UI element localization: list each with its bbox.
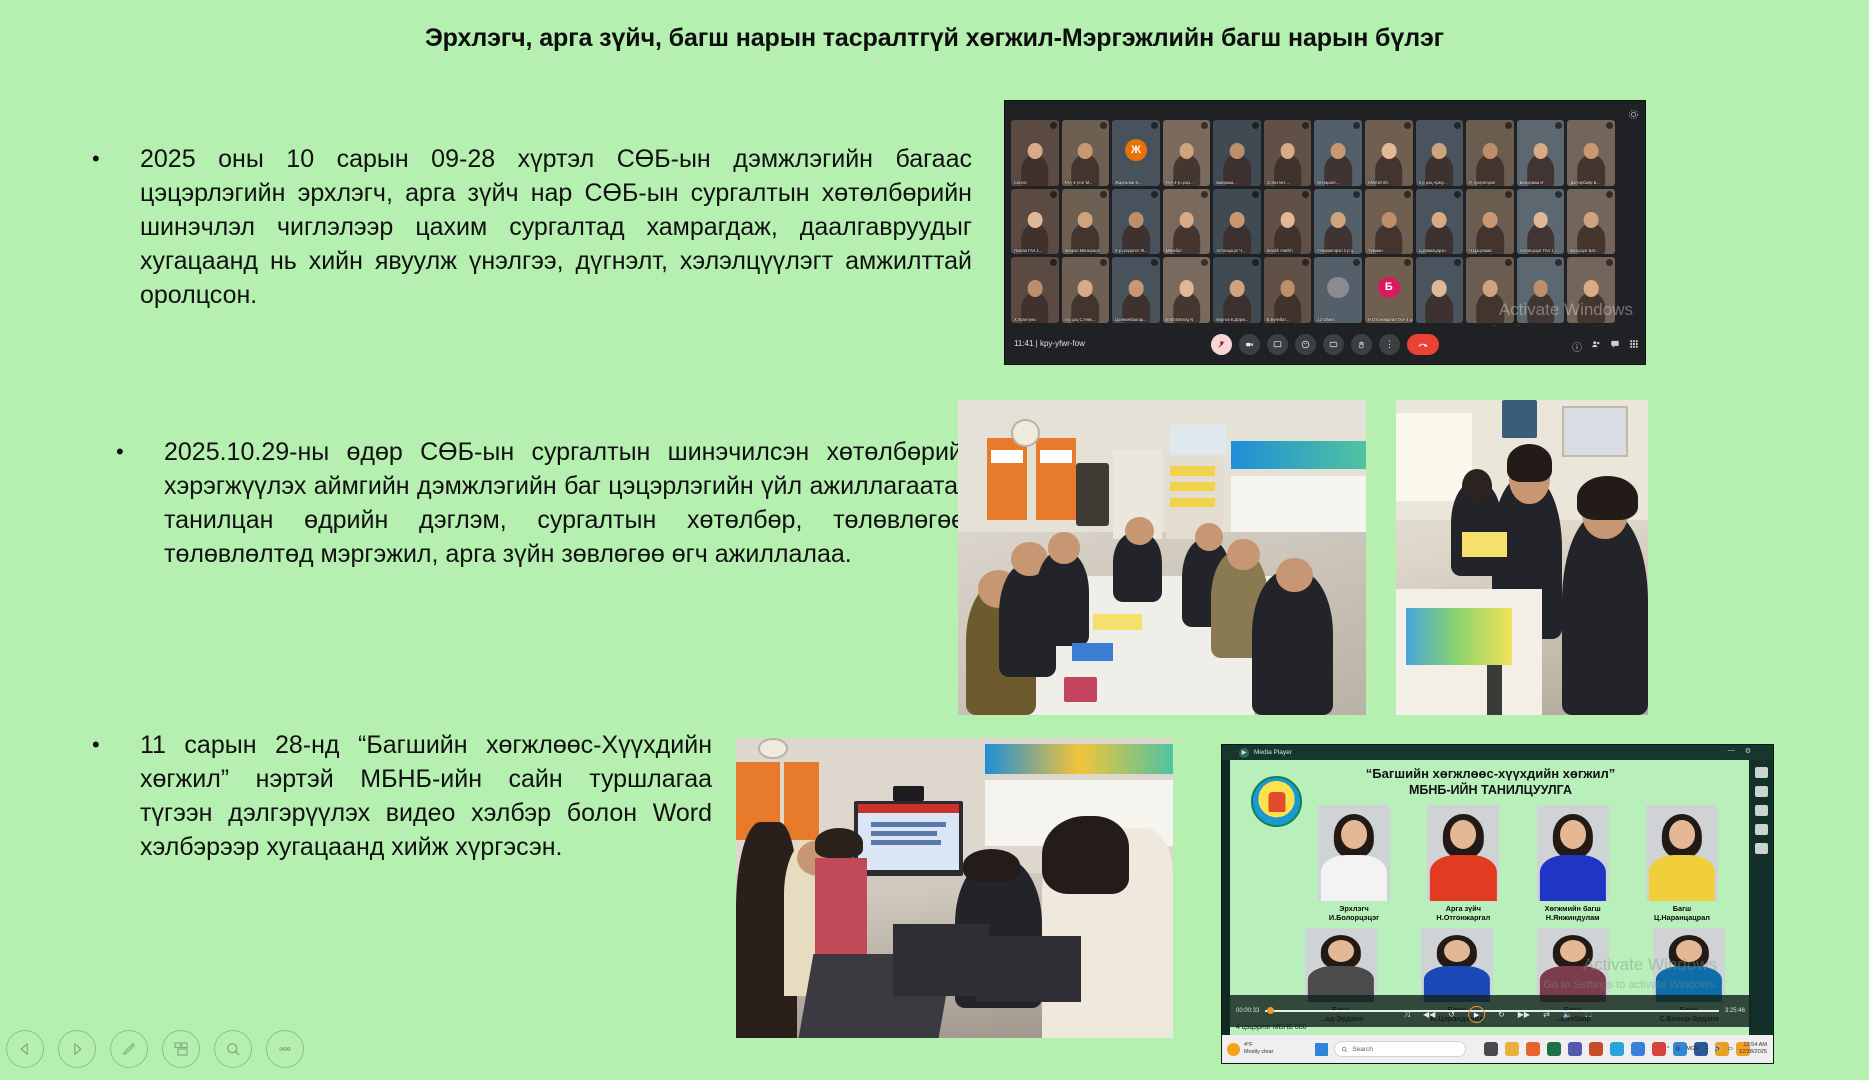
staff-name-label: И.Болорцэцэг: [1318, 913, 1390, 922]
participant-name-label: Лхагва ГАА 1...: [1014, 248, 1042, 253]
media-player-titlebar: ▶ Media Player — ⚙: [1222, 745, 1773, 760]
staff-portrait-photo: [1427, 805, 1499, 901]
meet-participant-tile[interactable]: ГАА 4-үсэг М...: [1062, 120, 1110, 186]
next-track-icon[interactable]: ▶▶: [1518, 1010, 1530, 1019]
participant-mic-icon: [1606, 191, 1613, 198]
person-right: [1562, 513, 1648, 715]
taskbar-search-input[interactable]: Search: [1334, 1041, 1466, 1057]
weather-widget[interactable]: 4°F Mostly clear: [1227, 1042, 1273, 1056]
zoom-button[interactable]: [214, 1030, 252, 1068]
participant-name-label: Мөнхбат: [1166, 248, 1182, 253]
participant-name-label: Болормаа И: [1520, 180, 1543, 185]
yellow-paper: [1093, 614, 1142, 630]
scrub-knob[interactable]: [1267, 1007, 1274, 1014]
meet-participant-tile[interactable]: 12 others: [1314, 257, 1362, 323]
portrait-face: [1560, 940, 1586, 962]
meet-participant-tile[interactable]: Цолмонбаатар...: [1112, 257, 1160, 323]
participant-name-label: Ч.Цэцэгмаа: [1469, 248, 1491, 253]
meet-separator: |: [1036, 339, 1038, 348]
meet-right-icons[interactable]: ⓘ: [1572, 339, 1639, 354]
meet-participant-tile[interactable]: Мөнхбат: [1163, 189, 1211, 255]
participant-mic-icon: [1404, 122, 1411, 129]
taskbar-search-placeholder: Search: [1352, 1046, 1373, 1053]
meet-participant-tile[interactable]: Дэлгэрбаяр Б...: [1567, 120, 1615, 186]
total-time: 3:25:46: [1725, 1008, 1745, 1014]
meet-participant-tile[interactable]: Байрмаа...: [1213, 120, 1261, 186]
bullet-item-2: • 2025.10.29-ны өдөр СӨБ-ын сургалтын ши…: [116, 435, 972, 571]
portrait-face: [1676, 940, 1702, 962]
screenshot-icon[interactable]: [1755, 767, 1768, 778]
meet-participant-tile[interactable]: Сонгол: [1011, 120, 1059, 186]
captions-icon[interactable]: [1323, 334, 1344, 355]
participant-name-label: Алтанцэцэг Ч...: [1216, 248, 1245, 253]
volume-icon[interactable]: 🔈: [1563, 1010, 1573, 1019]
magnifier-icon: [224, 1040, 242, 1058]
next-slide-button[interactable]: [58, 1030, 96, 1068]
meet-participant-tile[interactable]: [1466, 257, 1514, 323]
staff-portrait-photo: [1421, 928, 1493, 1002]
participant-name-label: Г.Нарангэрэл 1-р ц...: [1317, 248, 1356, 253]
participant-head: [1078, 143, 1093, 160]
participant-mic-icon: [1454, 259, 1461, 266]
more-options-icon[interactable]: ⋮: [1379, 334, 1400, 355]
meet-participant-tile[interactable]: Э.Энхтөгс ...: [1264, 120, 1312, 186]
participant-head: [1432, 212, 1447, 229]
tray-volume-icon[interactable]: 🔊: [1715, 1046, 1722, 1052]
meet-participant-tile[interactable]: [1567, 257, 1615, 323]
more-options-button[interactable]: [266, 1030, 304, 1068]
chat-icon[interactable]: [1610, 339, 1620, 354]
staff-portrait-photo: [1537, 928, 1609, 1002]
portrait-jacket: [1430, 855, 1496, 901]
taskbar-app-paint-icon[interactable]: [1610, 1042, 1624, 1056]
meet-participant-tile[interactable]: Болормаа И: [1517, 120, 1565, 186]
participant-mic-icon: [1100, 122, 1107, 129]
participant-head: [1129, 212, 1144, 229]
bullet-text-1: 2025 оны 10 сарын 09-28 хүртэл СӨБ-ын дэ…: [140, 142, 972, 312]
media-player-sidebar[interactable]: [1749, 760, 1773, 1037]
taskbar-app-teams-icon[interactable]: [1568, 1042, 1582, 1056]
taskbar-app-skype-icon[interactable]: [1631, 1042, 1645, 1056]
participant-head: [1533, 143, 1548, 160]
portrait-jacket: [1540, 855, 1606, 901]
participant-head: [1280, 280, 1295, 297]
present-screen-icon[interactable]: [1267, 334, 1288, 355]
participant-head: [1584, 280, 1599, 297]
meet-participant-tile[interactable]: 4-р цэц С.Ням...: [1062, 257, 1110, 323]
participant-mic-icon: [1302, 259, 1309, 266]
participant-head: [1027, 143, 1042, 160]
portrait-face: [1328, 940, 1354, 962]
crop-icon[interactable]: [1755, 824, 1768, 835]
meet-participant-tile[interactable]: Алтанцэцэг Ч...: [1213, 189, 1261, 255]
person-7-head: [1276, 558, 1313, 593]
participant-name-label: Түвшин: [1368, 248, 1383, 253]
media-player-icon: ▶: [1239, 748, 1249, 758]
shelf-folder-1: [1170, 466, 1215, 475]
meet-participant-tile[interactable]: KhM'эй Sh.: [1365, 120, 1413, 186]
portrait-face: [1669, 820, 1695, 849]
coat: [1076, 463, 1109, 526]
person-right-hair: [1577, 476, 1637, 520]
participant-name-label: Дэлгэрбаяр Б...: [1570, 180, 1599, 185]
participant-name-label: Алтанцэцэг ГАА 1...: [1520, 248, 1557, 253]
participant-avatar-initial: Ж: [1125, 139, 1147, 161]
fullscreen-icon[interactable]: ⛶: [1586, 1010, 1592, 1020]
pen-icon: [120, 1040, 138, 1058]
end-call-icon[interactable]: [1407, 334, 1439, 355]
meeting-info-icon[interactable]: ⓘ: [1572, 339, 1582, 354]
participant-head: [1483, 143, 1498, 160]
presentation-title-line-2: МБНБ-ИЙН ТАНИЛЦУУЛГА: [1230, 783, 1751, 797]
slides-grid-icon: [172, 1040, 190, 1058]
staff-row-top: ЭрхлэгчИ.БолорцэцэгАрга зүйчН.Отгонжарга…: [1318, 805, 1718, 922]
participant-mic-icon: [1353, 259, 1360, 266]
participant-mic-icon: [1252, 259, 1259, 266]
staff-name-label: Н.Отгонжаргал: [1427, 913, 1499, 922]
meet-participant-tile[interactable]: Энэрэл Мөнхцэцэг: [1062, 189, 1110, 255]
participant-mic-icon: [1505, 122, 1512, 129]
repeat-icon[interactable]: ⇄: [1543, 1010, 1550, 1019]
weather-condition: Mostly clear: [1244, 1049, 1273, 1056]
participant-head: [1078, 212, 1093, 229]
participant-mic-icon: [1606, 122, 1613, 129]
meet-participant-tile[interactable]: Бүрнээ Б.Дорж...: [1213, 257, 1261, 323]
participant-head: [1381, 212, 1396, 229]
participant-head: [1280, 212, 1295, 229]
portrait-face: [1560, 820, 1586, 849]
participant-name-label: 4-р цэц С.Ням...: [1065, 317, 1095, 322]
transport-controls[interactable]: ⤨ ◀◀ ↺ ▶ ↻ ▶▶ ⇄ 🔈 ⛶: [1404, 1006, 1592, 1023]
participant-mic-icon: [1404, 191, 1411, 198]
participant-name-label: Батцэцэг Бат...: [1570, 248, 1598, 253]
meet-participant-tile[interactable]: [1517, 257, 1565, 323]
blue-banner-2: [985, 744, 1173, 774]
participant-head: [1381, 143, 1396, 160]
portrait-jacket: [1321, 855, 1387, 901]
meet-participant-tile[interactable]: Алтанцэцэг ГАА 1...: [1517, 189, 1565, 255]
participant-head: [1230, 212, 1245, 229]
participant-name-label: mөnkh mөnkh: [1267, 248, 1293, 253]
projector-app-ribbon: [858, 804, 959, 813]
participant-name-label: Сонгол: [1014, 180, 1027, 185]
participant-name-label: 2-р цэц Арюу...: [1419, 180, 1447, 185]
participant-name-label: Э.Энхтөгс ...: [1267, 180, 1290, 185]
activities-icon[interactable]: [1629, 339, 1639, 354]
meet-participant-tile[interactable]: Ц.Даваацэрэн: [1416, 189, 1464, 255]
person-back-head: [1462, 469, 1492, 504]
participant-name-label: Н.Отгонжаргал ГАА 4 цэц: [1368, 317, 1413, 322]
elapsed-time: 00:00:33: [1236, 1008, 1259, 1014]
meet-participant-tile[interactable]: Р. Ариунгэрэл: [1466, 120, 1514, 186]
meet-participant-tile[interactable]: Х.Урантуяа: [1011, 257, 1059, 323]
participant-name-label: Х.Урантуяа: [1014, 317, 1036, 322]
participant-mic-icon: [1454, 191, 1461, 198]
participant-name-label: Цолмонбаатар...: [1115, 317, 1146, 322]
participant-mic-icon: [1555, 191, 1562, 198]
participant-body: [1476, 293, 1504, 323]
person-white-right-hair: [1042, 816, 1129, 894]
taskbar-tray[interactable]: ^ ◍ MGH ⌁ 🔊 ▭ 12:54 AM 12/28/2025: [1667, 1042, 1767, 1056]
participant-head: [1027, 280, 1042, 297]
participant-mic-icon: [1302, 191, 1309, 198]
wall-clock: [1011, 419, 1040, 447]
sticky-note: [1462, 532, 1507, 557]
media-player-window: ▶ Media Player — ⚙ “Багшийн хөгжлөөс-хүү…: [1221, 744, 1774, 1064]
meet-participant-grid[interactable]: СонголГАА 4-үсэг М...ЖЖаргалан Э...ГАА 4…: [1011, 120, 1615, 323]
participant-head: [1179, 280, 1194, 297]
pen: [1487, 665, 1502, 715]
board-paper-1: [991, 450, 1024, 463]
participant-name-label: Бүрнээ Б.Дорж...: [1216, 317, 1248, 322]
participant-name-label: Энэрэл Мөнхцэцэг: [1065, 248, 1100, 253]
tray-wifi-icon[interactable]: ⌁: [1705, 1046, 1708, 1052]
staff-role-label: Хөгжмийн багш: [1537, 904, 1609, 913]
phone: [1064, 677, 1097, 702]
meet-participant-tile[interactable]: ЖЖаргалан Э...: [1112, 120, 1160, 186]
meet-participant-tile[interactable]: EnKhtsetseg N: [1163, 257, 1211, 323]
participant-mic-icon: [1353, 191, 1360, 198]
participant-name-label: ГАА 4-үсэг М...: [1065, 180, 1093, 185]
chevron-right-icon: [68, 1040, 86, 1058]
meet-code: kpy-yfwr-fow: [1040, 339, 1085, 348]
taskbar-app-excel-icon[interactable]: [1547, 1042, 1561, 1056]
bullet-marker: •: [116, 435, 164, 571]
person-beige-hair: [815, 828, 863, 858]
participant-body: [1527, 293, 1555, 323]
tray-chevron-icon[interactable]: ^: [1667, 1046, 1670, 1052]
photo-laptops: [736, 738, 1173, 1038]
chevron-left-icon: [16, 1040, 34, 1058]
orange-board-4: [784, 762, 819, 840]
participant-mic-icon: [1100, 191, 1107, 198]
wall-documents: [1231, 476, 1366, 533]
taskbar-clock[interactable]: 12:54 AM 12/28/2025: [1739, 1042, 1767, 1056]
participant-head: [1230, 143, 1245, 160]
participant-mic-icon: [1555, 122, 1562, 129]
previous-slide-button[interactable]: [6, 1030, 44, 1068]
taskbar-app-powerpoint-icon[interactable]: [1589, 1042, 1603, 1056]
participant-head: [1483, 212, 1498, 229]
meet-participant-tile[interactable]: М.Нарант...: [1314, 120, 1362, 186]
taskbar-app-chrome-icon[interactable]: [1652, 1042, 1666, 1056]
participant-name-label: 3-р цэцэрлэг Ж...: [1115, 248, 1147, 253]
colored-chart: [1406, 608, 1512, 665]
emoji-icon[interactable]: [1295, 334, 1316, 355]
meet-participant-tile[interactable]: Лхагва ГАА 1...: [1011, 189, 1059, 255]
participant-head: [1078, 280, 1093, 297]
ellipsis-icon: [276, 1040, 294, 1058]
meet-participant-tile[interactable]: Батцэцэг Бат...: [1567, 189, 1615, 255]
tray-battery-icon[interactable]: ▭: [1728, 1046, 1733, 1052]
participant-mic-icon: [1454, 122, 1461, 129]
minimize-button[interactable]: —: [1728, 747, 1735, 755]
laptop-3: [976, 936, 1081, 1002]
participant-head: [1331, 212, 1346, 229]
participant-body: [1426, 293, 1454, 323]
previous-track-icon[interactable]: ◀◀: [1423, 1010, 1435, 1019]
participant-name-label: М.Нарант...: [1317, 180, 1338, 185]
taskbar-app-firefox-icon[interactable]: [1526, 1042, 1540, 1056]
camera-mount: [893, 786, 924, 801]
participant-head: [1179, 212, 1194, 229]
person-dark-center-head: [963, 849, 1020, 882]
staff-portrait-photo: [1653, 928, 1725, 1002]
meet-participant-tile[interactable]: 3-р цэцэрлэг Ж...: [1112, 189, 1160, 255]
staff-portrait-photo: [1318, 805, 1390, 901]
participant-mic-icon: [1505, 191, 1512, 198]
meet-participant-tile[interactable]: ГАА 4-р цэцэ...: [1163, 120, 1211, 186]
participant-head: [1584, 212, 1599, 229]
person-5-head: [1195, 523, 1224, 551]
slide-line-2: [871, 831, 937, 836]
pen-tools-button[interactable]: [110, 1030, 148, 1068]
participant-mic-icon: [1353, 122, 1360, 129]
participant-head: [1432, 143, 1447, 160]
person-4-head: [1125, 517, 1154, 545]
person-red: [815, 858, 867, 954]
shelf-folder-3: [1170, 498, 1215, 507]
camera-icon[interactable]: [1239, 334, 1260, 355]
bullet-marker: •: [92, 728, 140, 864]
meet-participant-tile[interactable]: mөnkh mөnkh: [1264, 189, 1312, 255]
forward-icon[interactable]: ↻: [1498, 1010, 1505, 1019]
wall-picture: [1562, 406, 1628, 456]
staff-portrait-card: БагшЦ.Наранцацрал: [1646, 805, 1718, 922]
storage-box: [1170, 425, 1227, 453]
participant-name-label: ГАА 4-р цэцэ...: [1166, 180, 1194, 185]
tray-network-icon[interactable]: ◍: [1675, 1046, 1680, 1052]
person-6-head: [1227, 539, 1260, 571]
presentation-heading: “Багшийн хөгжлөөс-хүүхдийн хөгжил” МБНБ-…: [1230, 766, 1751, 797]
rewind-icon[interactable]: ↺: [1448, 1010, 1455, 1019]
participant-mic-icon: [1201, 191, 1208, 198]
record-icon[interactable]: [1755, 805, 1768, 816]
participant-mic-icon: [1151, 191, 1158, 198]
staff-role-label: Арга зүйч: [1427, 904, 1499, 913]
person-3: [1036, 551, 1089, 646]
participant-name-label: Байрмаа...: [1216, 180, 1236, 185]
page-title: Эрхлэгч, арга зүйч, багш нарын тасралтгү…: [0, 24, 1869, 53]
slideshow-toolbar[interactable]: [6, 1030, 304, 1068]
participant-avatar-initial: Б: [1378, 277, 1400, 299]
participant-mic-icon: [1050, 191, 1057, 198]
staff-portrait-card: ЭрхлэгчИ.Болорцэцэг: [1318, 805, 1390, 922]
meet-topbar: [1601, 104, 1641, 120]
staff-name-label: Н.Янжиндулам: [1537, 913, 1609, 922]
participant-mic-icon: [1151, 122, 1158, 129]
bullet-text-2: 2025.10.29-ны өдөр СӨБ-ын сургалтын шинэ…: [164, 435, 972, 571]
windows-taskbar[interactable]: 4°F Mostly clear Search ^ ◍ MGH ⌁ 🔊 ▭ 12…: [1222, 1035, 1773, 1063]
meet-participant-tile[interactable]: БН.Отгонжаргал ГАА 4 цэц: [1365, 257, 1413, 323]
portrait-jacket: [1649, 855, 1715, 901]
meet-status-text: 11:41 | kpy-yfwr-fow: [1014, 339, 1085, 348]
participant-mic-icon: [1555, 259, 1562, 266]
laptop-2: [893, 924, 989, 996]
participant-head: [1432, 280, 1447, 297]
settings-icon-2[interactable]: [1755, 843, 1768, 854]
staff-role-label: Эрхлэгч: [1318, 904, 1390, 913]
tray-language[interactable]: MGH: [1686, 1046, 1699, 1052]
photo-group-work: [1396, 400, 1648, 715]
participant-mic-icon: [1201, 259, 1208, 266]
blue-folder: [1072, 643, 1113, 662]
participant-mic-icon: [1252, 122, 1259, 129]
board-paper-2: [1040, 450, 1073, 463]
participant-head: [1533, 280, 1548, 297]
participant-name-label: Жаргалан Э...: [1115, 180, 1141, 185]
meet-participant-tile[interactable]: Түвшин: [1365, 189, 1413, 255]
participant-mic-icon: [1201, 122, 1208, 129]
shuffle-icon[interactable]: ⤨: [1404, 1010, 1410, 1020]
participant-head: [1280, 143, 1295, 160]
weather-icon: [1227, 1043, 1240, 1056]
participant-mic-icon: [1302, 122, 1309, 129]
raise-hand-icon[interactable]: [1351, 334, 1372, 355]
person-center-hair: [1507, 444, 1552, 482]
shelf-folder-2: [1170, 482, 1215, 491]
meet-participant-tile[interactable]: Ч.Цэцэгмаа: [1466, 189, 1514, 255]
meet-participant-tile[interactable]: 2-р цэц Арюу...: [1416, 120, 1464, 186]
pen-holder: [1502, 400, 1537, 438]
portrait-face: [1450, 820, 1476, 849]
participant-name-label: 12 others: [1317, 317, 1334, 322]
camera-icon-2[interactable]: [1755, 786, 1768, 797]
participant-mic-icon: [1252, 191, 1259, 198]
clock-time: 12:54 AM: [1739, 1042, 1767, 1049]
participant-name-label: Р. Ариунгэрэл: [1469, 180, 1495, 185]
bullet-item-3: • 11 сарын 28-нд “Багшийн хөгжлөөс-Хүүхд…: [92, 728, 712, 864]
portrait-face: [1444, 940, 1470, 962]
participant-head: [1230, 280, 1245, 297]
meet-participant-tile[interactable]: [1416, 257, 1464, 323]
staff-name-label: Ц.Наранцацрал: [1646, 913, 1718, 922]
meet-controls[interactable]: ⋮: [1211, 334, 1439, 355]
participant-name-label: Ц.Даваацэрэн: [1419, 248, 1446, 253]
participant-head: [1533, 212, 1548, 229]
participant-name-label: EnKhtsetseg N: [1166, 317, 1193, 322]
window-controls[interactable]: — ⚙: [1728, 747, 1751, 755]
slide-line-1: [871, 822, 945, 827]
play-icon[interactable]: ▶: [1468, 1006, 1485, 1023]
participant-name-label: Б.Буянбат...: [1267, 317, 1289, 322]
all-slides-button[interactable]: [162, 1030, 200, 1068]
bullet-text-3: 11 сарын 28-нд “Багшийн хөгжлөөс-Хүүхдий…: [140, 728, 712, 864]
start-button-icon[interactable]: [1315, 1043, 1328, 1056]
meet-participant-tile[interactable]: Б.Буянбат...: [1264, 257, 1312, 323]
bullet-marker: •: [92, 142, 140, 312]
taskbar-app-folder-icon[interactable]: [1505, 1042, 1519, 1056]
overflow-avatar-cluster: [1327, 277, 1349, 299]
clock-date: 12/28/2025: [1739, 1049, 1767, 1056]
staff-role-label: Багш: [1646, 904, 1718, 913]
participant-head: [1483, 280, 1498, 297]
portrait-face: [1341, 820, 1367, 849]
staff-portrait-card: Арга зүйчН.Отгонжаргал: [1427, 805, 1499, 922]
participant-mic-icon: [1151, 259, 1158, 266]
participant-head: [1584, 143, 1599, 160]
people-icon[interactable]: [1591, 339, 1601, 354]
participant-head: [1179, 143, 1194, 160]
taskbar-app-file-explorer-icon[interactable]: [1484, 1042, 1498, 1056]
person-3-head: [1048, 532, 1081, 564]
meet-participant-tile[interactable]: Г.Нарангэрэл 1-р ц...: [1314, 189, 1362, 255]
settings-button[interactable]: ⚙: [1745, 747, 1751, 755]
participant-mic-icon: [1050, 259, 1057, 266]
mic-muted-icon[interactable]: [1211, 334, 1232, 355]
meet-clock: 11:41: [1014, 339, 1033, 348]
staff-portrait-photo: [1537, 805, 1609, 901]
